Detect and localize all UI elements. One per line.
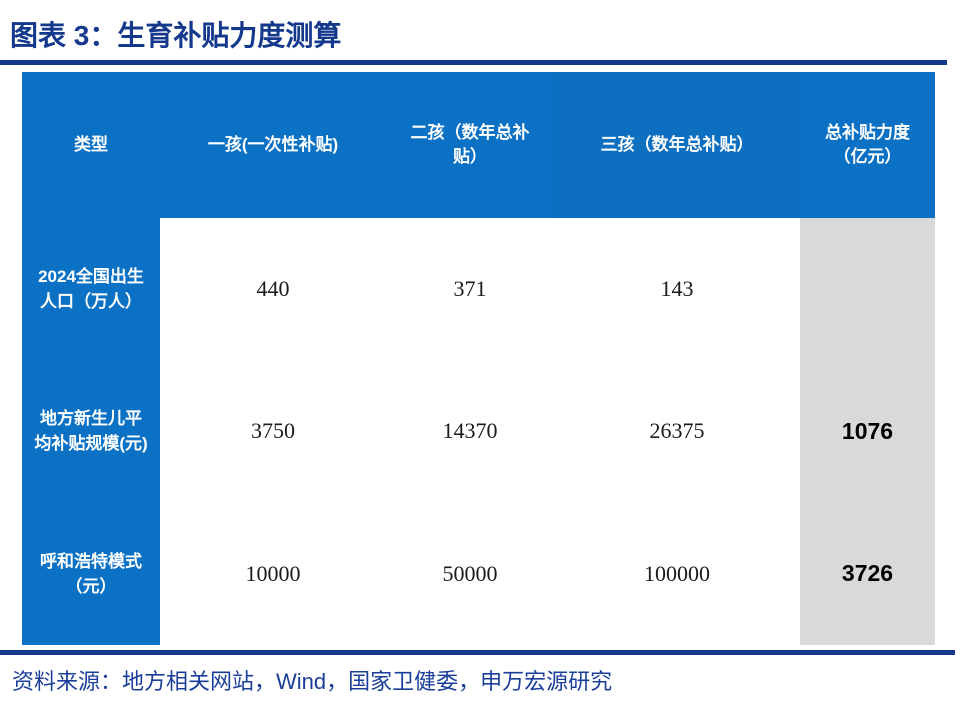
footer-divider-rule — [0, 650, 955, 655]
column-header-total-line1: 总补贴力度 — [825, 123, 910, 142]
row-label-local-average-subsidy: 地方新生儿平 均补贴规模(元) — [22, 360, 160, 502]
column-header-second-child-line2: 贴） — [453, 147, 487, 166]
row-label-hohhot-model-line1: 呼和浩特模式 — [40, 552, 142, 571]
row-label-births-2024-line1: 2024全国出生 — [38, 267, 144, 286]
cell-births-total — [800, 218, 935, 360]
column-header-first-child: 一孩(一次性补贴) — [160, 72, 386, 218]
subsidy-table: 类型 一孩(一次性补贴) 二孩（数年总补 贴） 三孩（数年总补贴） 总补贴力度 … — [22, 72, 935, 645]
row-label-births-2024: 2024全国出生 人口（万人） — [22, 218, 160, 360]
column-header-type: 类型 — [22, 72, 160, 218]
cell-local-total: 1076 — [800, 360, 935, 502]
source-note: 资料来源：地方相关网站，Wind，国家卫健委，申万宏源研究 — [12, 665, 612, 699]
row-label-births-2024-line2: 人口（万人） — [40, 292, 142, 311]
column-header-second-child: 二孩（数年总补 贴） — [386, 72, 554, 218]
column-header-total-subsidy: 总补贴力度 （亿元） — [800, 72, 935, 218]
column-header-total-line2: （亿元） — [834, 147, 902, 166]
cell-hohhot-total: 3726 — [800, 502, 935, 645]
figure-page: 图表 3：生育补贴力度测算 类型 一孩(一次性补贴) 二孩（数年总补 贴） — [0, 0, 963, 718]
subsidy-table-container: 类型 一孩(一次性补贴) 二孩（数年总补 贴） 三孩（数年总补贴） 总补贴力度 … — [22, 72, 935, 645]
title-divider-rule — [0, 60, 947, 65]
table-row: 2024全国出生 人口（万人） 440 371 143 — [22, 218, 935, 360]
table-header-row: 类型 一孩(一次性补贴) 二孩（数年总补 贴） 三孩（数年总补贴） 总补贴力度 … — [22, 72, 935, 218]
cell-local-third-child: 26375 — [554, 360, 800, 502]
column-header-third-child: 三孩（数年总补贴） — [554, 72, 800, 218]
row-label-hohhot-model-line2: （元） — [66, 577, 117, 596]
column-header-second-child-line1: 二孩（数年总补 — [411, 121, 530, 145]
row-label-hohhot-model: 呼和浩特模式 （元） — [22, 502, 160, 645]
cell-births-third-child: 143 — [554, 218, 800, 360]
table-row: 呼和浩特模式 （元） 10000 50000 100000 3726 — [22, 502, 935, 645]
cell-hohhot-first-child: 10000 — [160, 502, 386, 645]
cell-hohhot-third-child: 100000 — [554, 502, 800, 645]
table-body: 2024全国出生 人口（万人） 440 371 143 地方新生儿平 均补贴规模… — [22, 218, 935, 645]
row-label-local-average-subsidy-line1: 地方新生儿平 — [40, 409, 142, 428]
row-label-local-average-subsidy-line2: 均补贴规模(元) — [34, 434, 147, 453]
cell-births-first-child: 440 — [160, 218, 386, 360]
table-row: 地方新生儿平 均补贴规模(元) 3750 14370 26375 1076 — [22, 360, 935, 502]
cell-hohhot-second-child: 50000 — [386, 502, 554, 645]
cell-local-first-child: 3750 — [160, 360, 386, 502]
table-header: 类型 一孩(一次性补贴) 二孩（数年总补 贴） 三孩（数年总补贴） 总补贴力度 … — [22, 72, 935, 218]
page-title: 图表 3：生育补贴力度测算 — [10, 16, 341, 56]
cell-local-second-child: 14370 — [386, 360, 554, 502]
cell-births-second-child: 371 — [386, 218, 554, 360]
